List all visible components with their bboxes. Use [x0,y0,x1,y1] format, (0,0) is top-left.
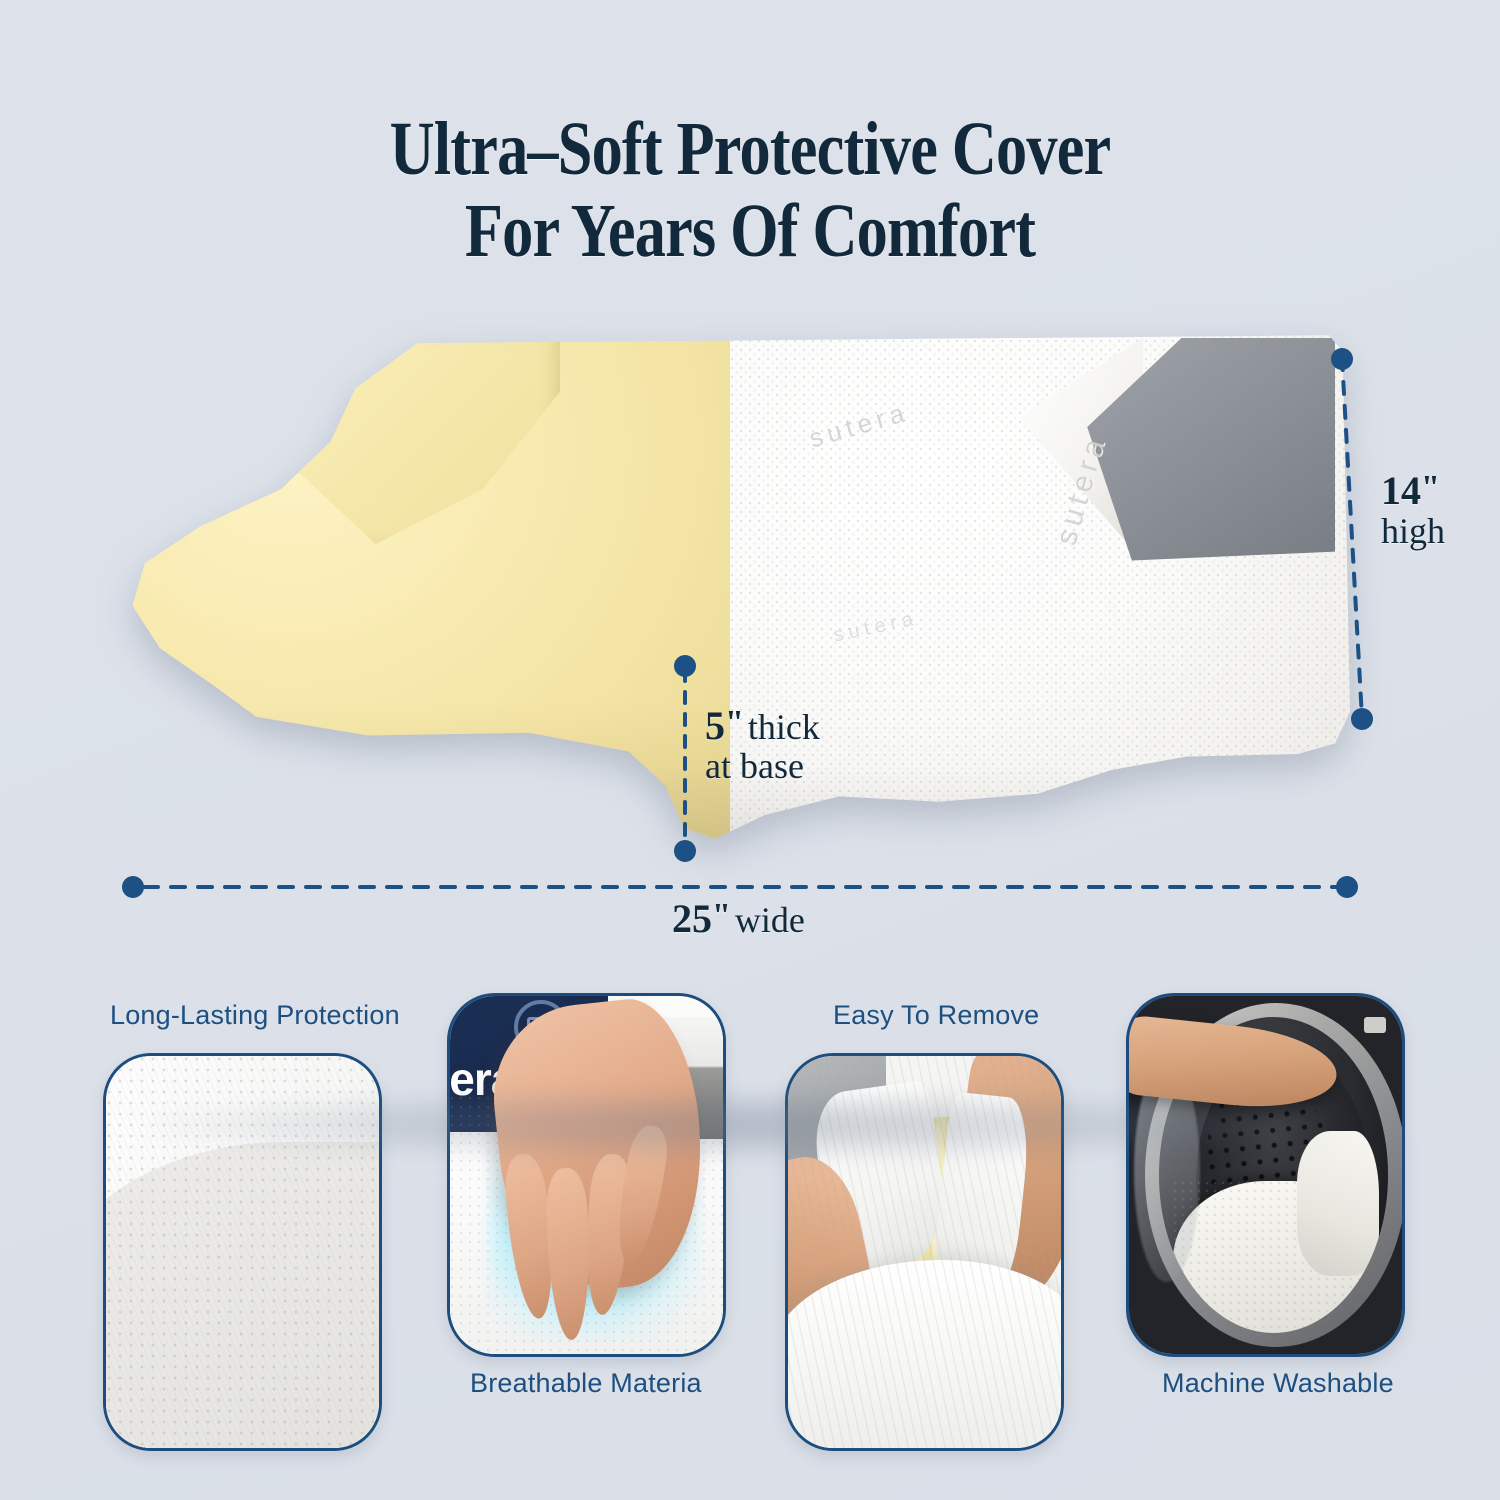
feature-label-breathable-material: Breathable Materia [470,1368,702,1399]
hero-product-image: sutera sutera sutera 14" high 5" thick a… [0,330,1500,890]
door-latch-icon [1364,1017,1386,1033]
thickness-unit: " [725,704,744,741]
thickness-value: 5 [705,703,725,748]
thickness-dimension-dot-bottom [674,840,696,862]
thickness-dimension-line [665,660,705,870]
height-unit: " [1421,469,1440,506]
height-word: high [1381,512,1445,550]
feature-label-machine-washable: Machine Washable [1162,1368,1394,1399]
height-dimension-dot-bottom [1351,708,1373,730]
breathable-material-image: era [450,996,723,1354]
width-dimension-label: 25" wide [672,898,805,940]
width-word: wide [735,900,805,940]
thickness-dimension-label: 5" thick at base [705,705,820,786]
height-value: 14 [1381,468,1421,513]
width-unit: " [712,897,731,934]
width-value: 25 [672,896,712,941]
feature-label-long-lasting-protection: Long-Lasting Protection [110,1000,400,1031]
thickness-dimension-dot-top [674,655,696,677]
feature-card-breathable-material[interactable]: era [447,993,726,1357]
feature-label-easy-to-remove: Easy To Remove [833,1000,1039,1031]
infographic-root: Ultra–Soft Protective Cover For Years Of… [0,0,1500,1500]
thickness-word-2: at base [705,747,820,785]
machine-washable-image [1129,996,1402,1354]
height-dimension-dot-top [1331,348,1353,370]
feature-card-machine-washable[interactable] [1126,993,1405,1357]
height-dimension-label: 14" high [1381,470,1445,551]
thickness-word: thick [748,707,820,747]
width-dimension-dot-left [122,876,144,898]
product-drop-shadow [150,1090,1330,1160]
width-dimension-dot-right [1336,876,1358,898]
